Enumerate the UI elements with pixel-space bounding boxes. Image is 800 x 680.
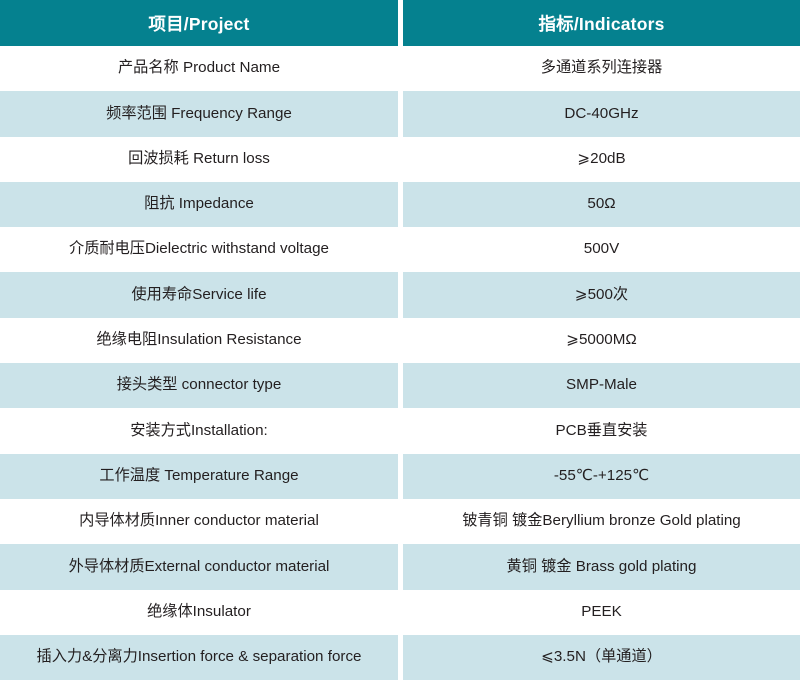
cell-project: 使用寿命Service life bbox=[0, 272, 398, 317]
table-row: 绝缘电阻Insulation Resistance ⩾5000MΩ bbox=[0, 318, 800, 363]
table-body: 产品名称 Product Name 多通道系列连接器 频率范围 Frequenc… bbox=[0, 46, 800, 680]
table-row: 回波损耗 Return loss ⩾20dB bbox=[0, 137, 800, 182]
table-row: 安装方式Installation: PCB垂直安装 bbox=[0, 408, 800, 453]
table-row: 使用寿命Service life ⩾500次 bbox=[0, 272, 800, 317]
cell-project: 接头类型 connector type bbox=[0, 363, 398, 408]
cell-indicator: PEEK bbox=[403, 590, 800, 635]
table-row: 插入力&分离力Insertion force & separation forc… bbox=[0, 635, 800, 680]
cell-project: 插入力&分离力Insertion force & separation forc… bbox=[0, 635, 398, 680]
table-row: 外导体材质External conductor material 黄铜 镀金 B… bbox=[0, 544, 800, 589]
table-row: 介质耐电压Dielectric withstand voltage 500V bbox=[0, 227, 800, 272]
cell-indicator: PCB垂直安装 bbox=[403, 408, 800, 453]
cell-indicator: ⩾500次 bbox=[403, 272, 800, 317]
column-header-indicators: 指标/Indicators bbox=[403, 0, 800, 46]
cell-project: 产品名称 Product Name bbox=[0, 46, 398, 91]
cell-indicator: ⩾20dB bbox=[403, 137, 800, 182]
cell-indicator: 多通道系列连接器 bbox=[403, 46, 800, 91]
cell-project: 绝缘电阻Insulation Resistance bbox=[0, 318, 398, 363]
cell-project: 工作温度 Temperature Range bbox=[0, 454, 398, 499]
table-row: 绝缘体Insulator PEEK bbox=[0, 590, 800, 635]
table-row: 产品名称 Product Name 多通道系列连接器 bbox=[0, 46, 800, 91]
cell-indicator: -55℃-+125℃ bbox=[403, 454, 800, 499]
cell-indicator: 50Ω bbox=[403, 182, 800, 227]
cell-indicator: 500V bbox=[403, 227, 800, 272]
cell-indicator: SMP-Male bbox=[403, 363, 800, 408]
table-row: 工作温度 Temperature Range -55℃-+125℃ bbox=[0, 454, 800, 499]
cell-indicator: ⩾5000MΩ bbox=[403, 318, 800, 363]
column-header-project: 项目/Project bbox=[0, 0, 398, 46]
cell-indicator: DC-40GHz bbox=[403, 91, 800, 136]
cell-project: 介质耐电压Dielectric withstand voltage bbox=[0, 227, 398, 272]
cell-project: 回波损耗 Return loss bbox=[0, 137, 398, 182]
table-row: 接头类型 connector type SMP-Male bbox=[0, 363, 800, 408]
cell-indicator: 黄铜 镀金 Brass gold plating bbox=[403, 544, 800, 589]
cell-project: 安装方式Installation: bbox=[0, 408, 398, 453]
table-row: 频率范围 Frequency Range DC-40GHz bbox=[0, 91, 800, 136]
cell-project: 绝缘体Insulator bbox=[0, 590, 398, 635]
specification-table: 项目/Project 指标/Indicators 产品名称 Product Na… bbox=[0, 0, 800, 680]
cell-project: 内导体材质Inner conductor material bbox=[0, 499, 398, 544]
table-row: 内导体材质Inner conductor material 铍青铜 镀金Bery… bbox=[0, 499, 800, 544]
table-header-row: 项目/Project 指标/Indicators bbox=[0, 0, 800, 46]
cell-project: 外导体材质External conductor material bbox=[0, 544, 398, 589]
cell-indicator: 铍青铜 镀金Beryllium bronze Gold plating bbox=[403, 499, 800, 544]
table-row: 阻抗 Impedance 50Ω bbox=[0, 182, 800, 227]
cell-project: 频率范围 Frequency Range bbox=[0, 91, 398, 136]
cell-project: 阻抗 Impedance bbox=[0, 182, 398, 227]
cell-indicator: ⩽3.5N（单通道） bbox=[403, 635, 800, 680]
